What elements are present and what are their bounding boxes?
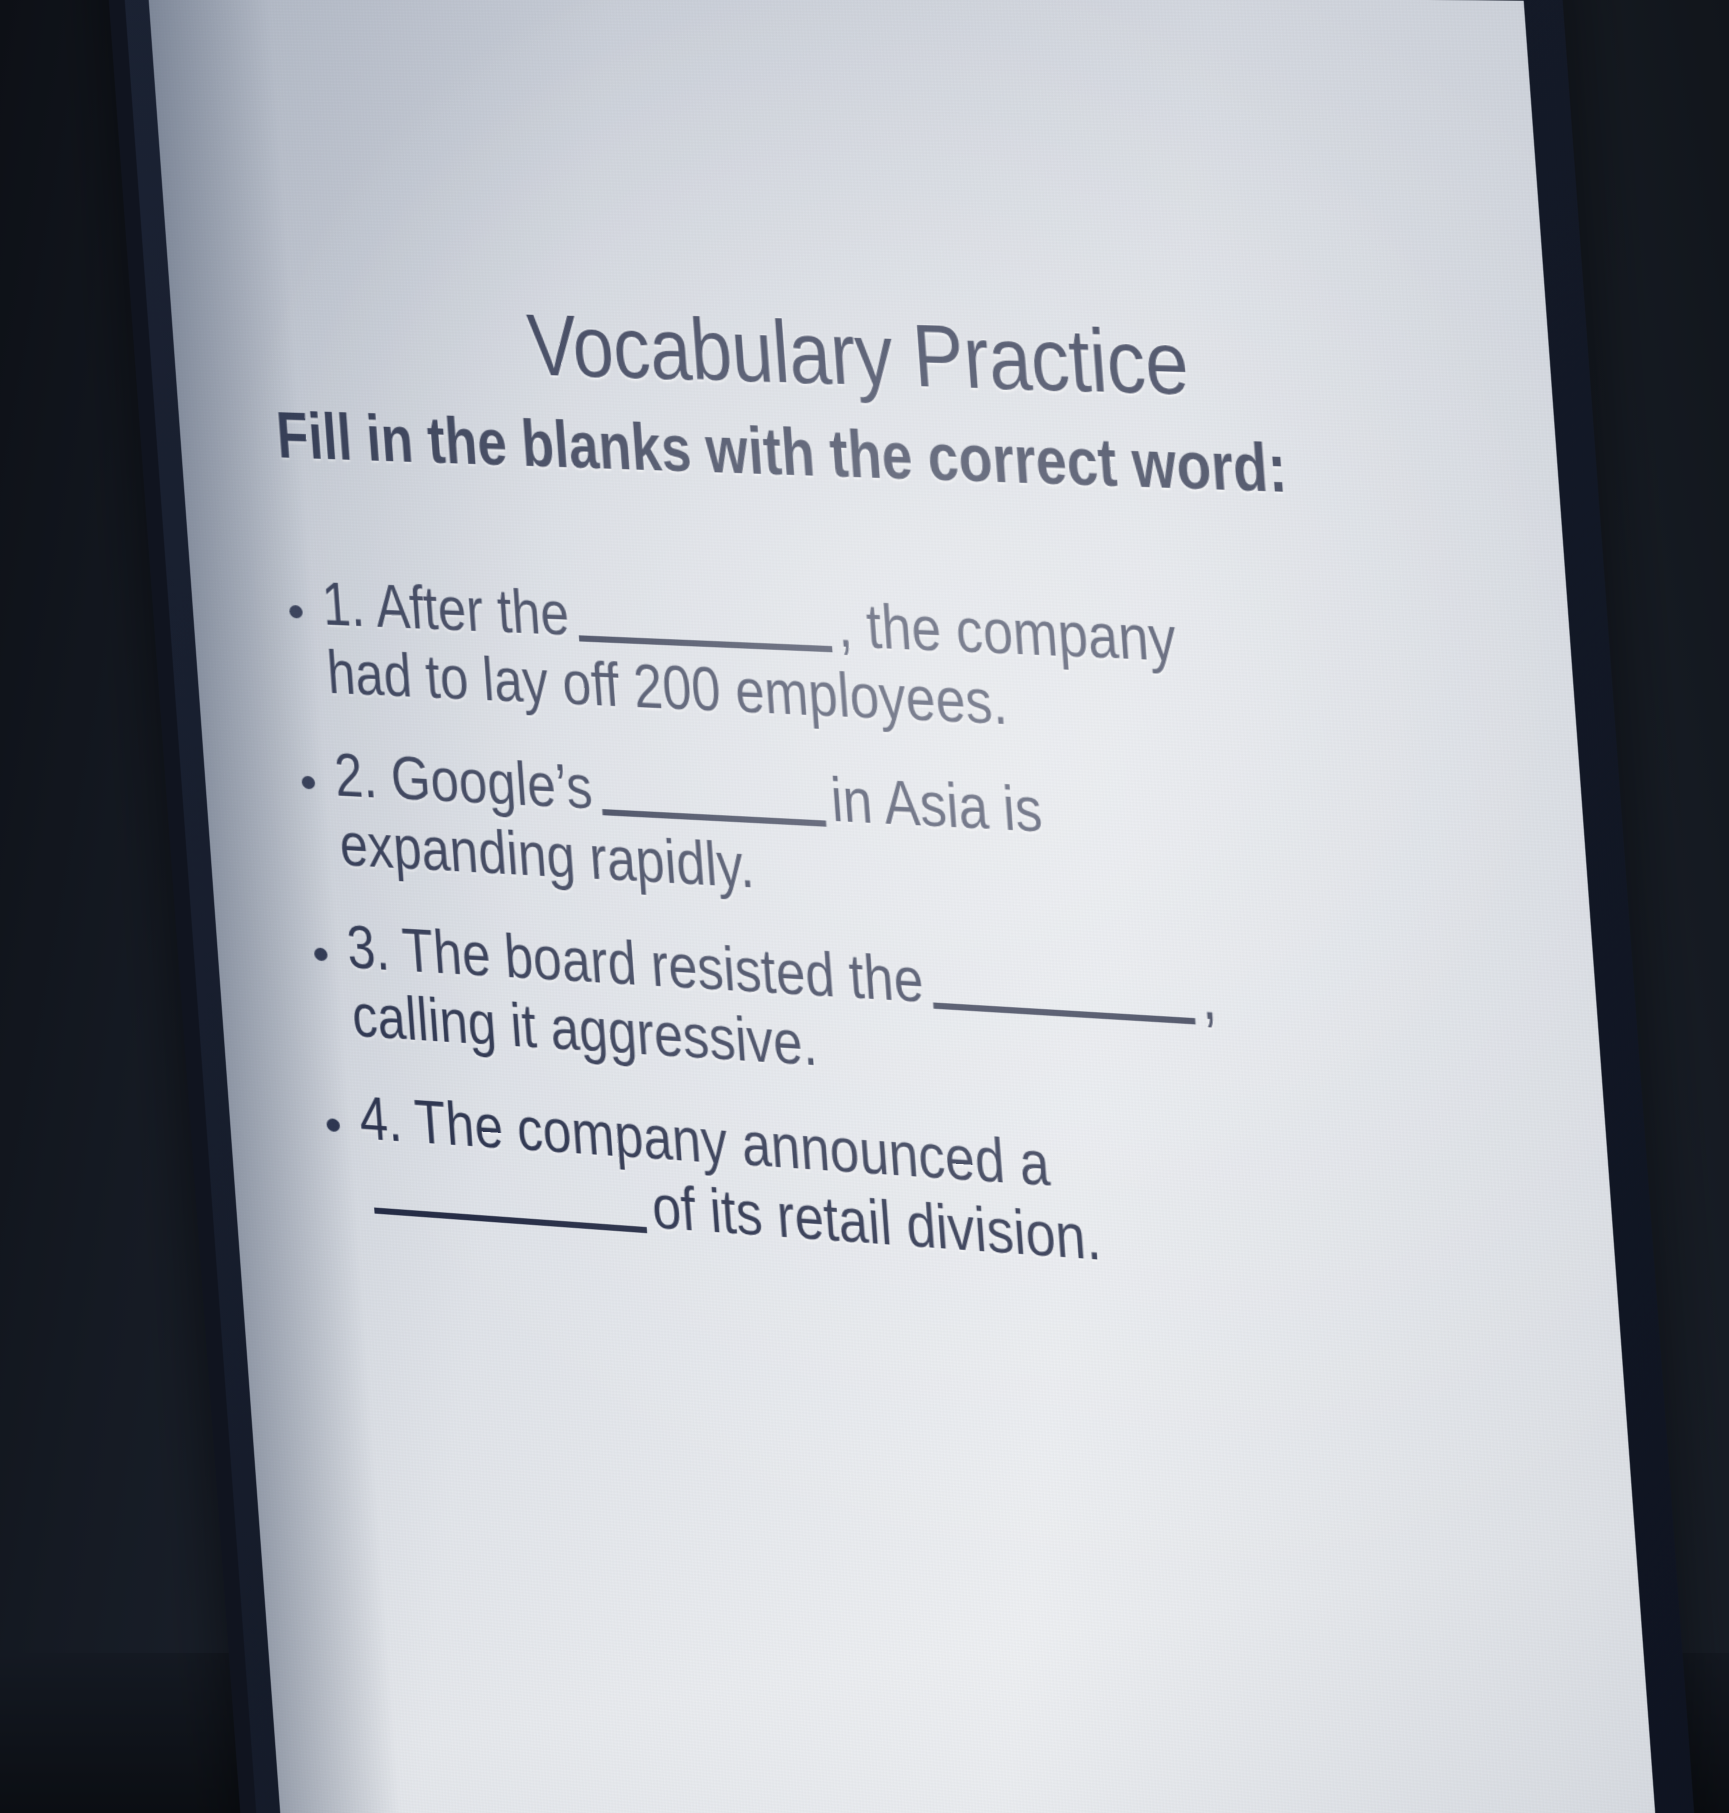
bullet-dot-icon — [326, 1118, 340, 1132]
exercise-sentence-3: 3. The board resisted the, calling it ag… — [345, 913, 1281, 1109]
sentence-before-blank: 1. After the — [320, 569, 572, 649]
slide-content: Vocabulary Practice Fill in the blanks w… — [148, 0, 1674, 1813]
exercise-list: 1. After the, the company had to lay off… — [286, 569, 1538, 1307]
fill-in-blank-4[interactable] — [374, 1208, 647, 1234]
fill-in-blank-3[interactable] — [933, 1002, 1195, 1024]
projector-screen: Vocabulary Practice Fill in the blanks w… — [104, 0, 1715, 1813]
list-item: 4. The company announced aof its retail … — [324, 1082, 1539, 1306]
bullet-dot-icon — [289, 605, 303, 619]
projector-screen-surface: Vocabulary Practice Fill in the blanks w… — [148, 0, 1674, 1813]
screenshot-stage: Vocabulary Practice Fill in the blanks w… — [0, 0, 1729, 1813]
list-item: 2. Google’sin Asia is expanding rapidly. — [299, 740, 1513, 944]
slide-title: Vocabulary Practice — [368, 291, 1360, 421]
exercise-sentence-1: 1. After the, the company had to lay off… — [320, 570, 1255, 750]
list-item: 1. After the, the company had to lay off… — [286, 569, 1499, 762]
exercise-sentence-4: 4. The company announced aof its retail … — [357, 1084, 1293, 1288]
slide-subtitle: Fill in the blanks with the correct word… — [274, 398, 1229, 506]
bullet-dot-icon — [301, 776, 315, 790]
exercise-sentence-2: 2. Google’sin Asia is expanding rapidly. — [332, 742, 1267, 930]
bullet-dot-icon — [314, 947, 328, 961]
